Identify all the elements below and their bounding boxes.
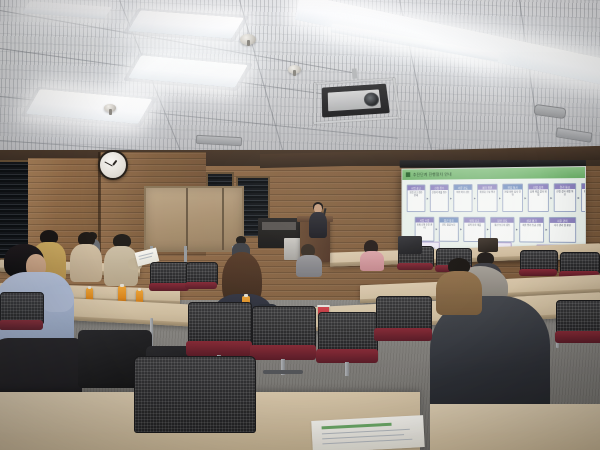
seminar-room-photo: 추진단계 진행절차 안내 사업 공고 모집 공고 접수 안내 ▸ 신청 접수 신… (0, 0, 600, 450)
chair (150, 262, 188, 298)
slide-title-text: 추진단계 진행절차 안내 (413, 171, 452, 177)
chair (0, 292, 42, 340)
chair (376, 296, 430, 352)
chair-seat (0, 320, 43, 331)
attendee-beige-3 (104, 234, 138, 284)
flow-box-body: 심의 의결 결과 확정 (529, 189, 548, 211)
flow-box: 신청 접수 신청서 제출 접수 (430, 184, 449, 212)
board-divider (222, 188, 224, 250)
handout-line (322, 434, 404, 439)
chair-back (0, 292, 44, 324)
partition-board (144, 186, 244, 252)
chair (556, 300, 600, 354)
chair (318, 312, 376, 376)
flow-box-body: 위원회 구성 평가 (478, 190, 497, 211)
wall-clock (98, 150, 128, 180)
flow-box: 성과 평가 최종 평가 등급 산정 (519, 217, 544, 243)
handout-line (322, 439, 412, 445)
chair-seat (374, 328, 431, 340)
chair-back (556, 300, 600, 335)
flow-box: 결과 통보 선정 결과 개별 통보 (554, 183, 576, 212)
chair (252, 306, 314, 374)
slide-title-bar: 추진단계 진행절차 안내 (402, 167, 585, 180)
handout-highlight (322, 423, 392, 430)
flow-box-body: 모집 공고 접수 안내 (408, 190, 425, 211)
tote-bag (478, 238, 498, 252)
chair-back (252, 306, 316, 350)
handout-line (139, 256, 152, 260)
board-divider (186, 188, 188, 250)
chair-post (345, 362, 349, 376)
flow-box-body: 사후 관리 및 환류 (550, 223, 575, 242)
presenter (308, 202, 328, 238)
attendee-torso (360, 251, 384, 271)
chair-back (376, 296, 432, 333)
flow-box-body: 현장 확인 실사 진행 (503, 189, 522, 211)
tote-bag (398, 236, 422, 254)
chair-seat (149, 283, 189, 291)
attendee-ponytail (296, 244, 322, 276)
projector-mount-stem (352, 68, 358, 78)
flow-box-body: 신청서 제출 접수 (431, 190, 448, 211)
flowchart-row-1: 사업 공고 모집 공고 접수 안내 ▸ 신청 접수 신청서 제출 접수 ▸ 서류… (407, 183, 585, 212)
flow-box: 협약 체결 협약서 작성 체결 완료 (581, 183, 585, 212)
flow-box: 서류 검토 적격 여부 검토 (453, 184, 472, 212)
handout-foreground (311, 415, 425, 450)
projector-cage-bar (314, 116, 401, 124)
chair-back (134, 356, 256, 433)
flow-box-body: 협약서 작성 체결 완료 (582, 189, 585, 211)
flow-box-body: 적격 여부 검토 (454, 190, 471, 211)
attendee-pink (360, 240, 384, 270)
attendee-brown-knit (436, 258, 482, 314)
sprinkler-icon (288, 65, 301, 74)
chair-seat (185, 282, 217, 289)
chair-base (263, 370, 303, 374)
attendee-torso (296, 255, 322, 277)
attendee-torso (436, 271, 482, 315)
sprinkler-icon (240, 34, 256, 45)
flow-box: 중간 점검 진도 점검 보고 (439, 217, 459, 242)
chair-back (318, 312, 378, 354)
flow-box-body: 선정 결과 개별 통보 (555, 189, 575, 211)
flow-box: 선정 심의 심의 의결 결과 확정 (528, 183, 549, 212)
flow-box-body: 최종 평가 등급 산정 (520, 223, 543, 242)
slide-title-marker-icon (406, 172, 410, 177)
flow-box: 사업 공고 모집 공고 접수 안내 (407, 184, 426, 212)
flow-box: 현장 실사 현장 확인 실사 진행 (502, 184, 523, 212)
chair-seat (397, 263, 433, 270)
flow-box-body: 진도 점검 보고 (440, 223, 458, 241)
sprinkler-icon (104, 104, 116, 112)
flow-box: 사후 관리 사후 관리 및 환류 (549, 217, 576, 243)
chair-back (188, 302, 252, 346)
flow-box: 평가 위원 위원회 구성 평가 (477, 184, 497, 212)
av-rack-panel (262, 222, 296, 230)
handout-line (322, 429, 410, 434)
chair (186, 262, 216, 296)
clock-hand-hour (112, 160, 117, 166)
chair-seat (555, 331, 600, 343)
presenter-torso (309, 212, 327, 238)
attendee-arm (40, 286, 74, 312)
projector-cage-bar (314, 83, 316, 124)
ceiling-projector (314, 74, 402, 128)
chair-foreground (134, 356, 254, 450)
foreground-table-right (430, 404, 600, 450)
